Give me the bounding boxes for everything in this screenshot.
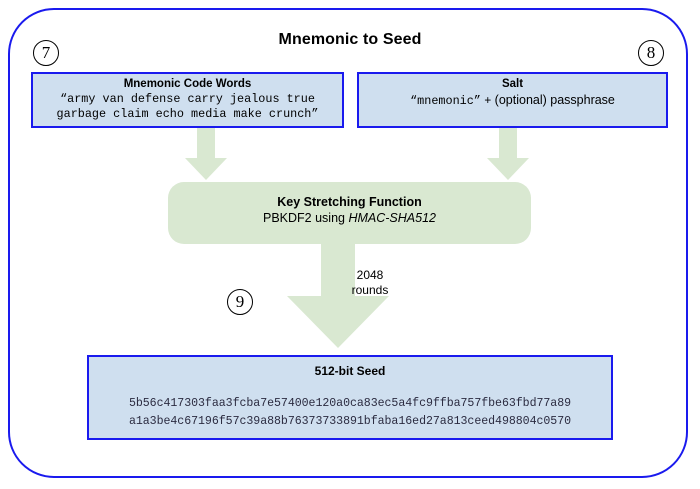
rounds-unit: rounds: [330, 283, 410, 298]
mnemonic-code-words-box: Mnemonic Code Words “army van defense ca…: [31, 72, 344, 128]
seed-box: 512-bit Seed 5b56c417303faa3fcba7e57400e…: [87, 355, 613, 440]
page-title: Mnemonic to Seed: [0, 31, 700, 49]
mnemonic-words-line-2: garbage claim echo media make crunch”: [33, 107, 342, 122]
salt-box: Salt “mnemonic” + (optional) passphrase: [357, 72, 668, 128]
salt-box-formula: “mnemonic” + (optional) passphrase: [359, 92, 666, 110]
salt-mono-literal: “mnemonic”: [410, 94, 481, 108]
seed-hex-line-2: a1a3be4c67196f57c39a88b76373733891bfaba1…: [89, 413, 611, 431]
step-marker-8: 8: [638, 40, 664, 66]
key-stretching-function-box: Key Stretching Function PBKDF2 using HMA…: [168, 182, 531, 244]
step-marker-7: 7: [33, 40, 59, 66]
rounds-label: 2048 rounds: [330, 268, 410, 298]
step-marker-9: 9: [227, 289, 253, 315]
salt-passphrase-label: (optional) passphrase: [495, 93, 615, 107]
seed-box-heading: 512-bit Seed: [89, 357, 611, 379]
mnemonic-words-line-1: “army van defense carry jealous true: [33, 92, 342, 107]
key-stretching-prefix: PBKDF2 using: [263, 211, 348, 225]
seed-hex-line-1: 5b56c417303faa3fcba7e57400e120a0ca83ec5a…: [89, 395, 611, 413]
salt-box-heading: Salt: [359, 74, 666, 92]
key-stretching-subtitle: PBKDF2 using HMAC-SHA512: [168, 210, 531, 227]
arrow-down-icon-salt: [486, 128, 530, 184]
diagram-canvas: Mnemonic to Seed 7 8 9 Mnemonic Code Wor…: [0, 0, 700, 489]
key-stretching-title: Key Stretching Function: [168, 194, 531, 210]
key-stretching-algorithm: HMAC-SHA512: [348, 211, 436, 225]
arrow-down-icon-mnemonic: [184, 128, 228, 184]
mnemonic-box-heading: Mnemonic Code Words: [33, 74, 342, 92]
rounds-count: 2048: [330, 268, 410, 283]
salt-plus-operator: +: [484, 94, 491, 108]
